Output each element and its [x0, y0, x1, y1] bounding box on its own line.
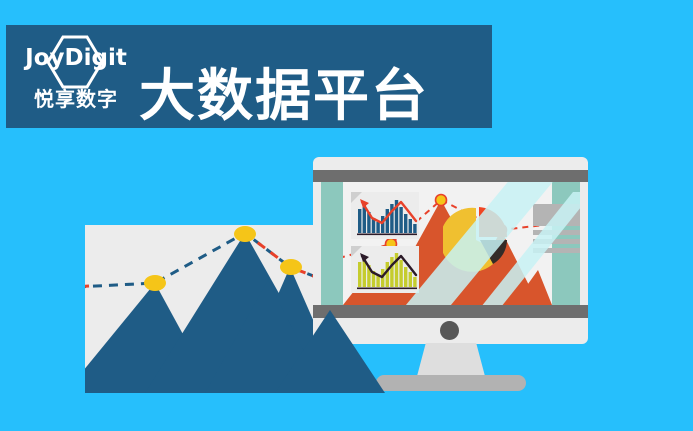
text-block-placeholder	[533, 204, 580, 252]
dashboard-content	[343, 182, 552, 305]
monitor-base	[376, 375, 526, 391]
olive-bar-chart-card[interactable]	[351, 246, 419, 293]
text-block-heading	[533, 204, 580, 226]
logo-subtitle: 悦享数字	[20, 90, 132, 110]
brand-logo: JoyDigit 悦享数字	[20, 33, 132, 121]
card-fold-corner	[351, 246, 362, 257]
desktop-monitor	[313, 157, 588, 344]
blue-mountain-chart	[85, 225, 325, 393]
blue-mountain-chart-panel	[85, 225, 325, 393]
screen-left-band	[321, 182, 343, 305]
text-block-line	[533, 248, 580, 253]
page-title: 大数据平台	[139, 69, 429, 125]
card-fold-corner	[351, 192, 362, 203]
text-block-line	[533, 230, 580, 235]
monitor-screen	[321, 182, 580, 305]
monitor-top-bar	[313, 170, 588, 182]
logo-wordmark: JoyDigit	[20, 47, 132, 70]
poster-canvas: JoyDigit 悦享数字 大数据平台	[0, 0, 693, 431]
pie-chart[interactable]	[443, 204, 515, 276]
power-button-icon[interactable]	[440, 321, 459, 340]
header-banner: JoyDigit 悦享数字 大数据平台	[6, 25, 492, 128]
blue-bar-chart-card[interactable]	[351, 192, 419, 239]
text-block-line	[533, 239, 580, 244]
monitor-bottom-bar	[313, 305, 588, 318]
